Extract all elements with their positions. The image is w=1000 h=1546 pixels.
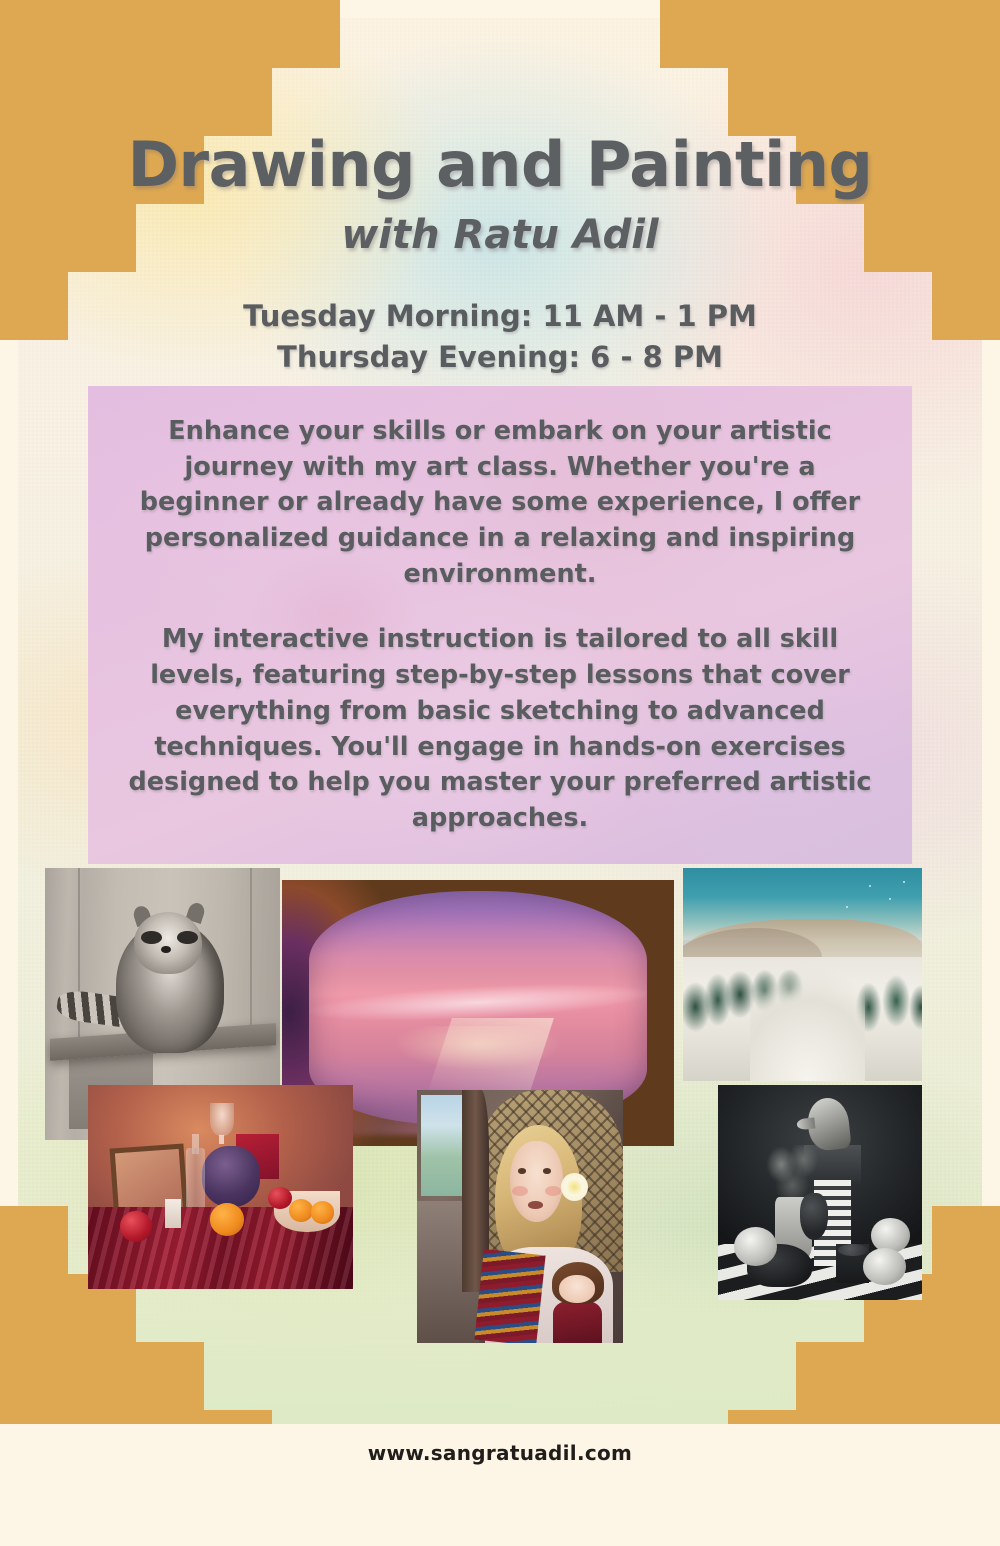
mono-pumpkin-left [734,1227,777,1266]
description-paragraph-1: Enhance your skills or embark on your ar… [124,414,876,592]
description-text: Enhance your skills or embark on your ar… [88,386,912,864]
description-paragraph-2: My interactive instruction is tailored t… [124,622,876,836]
raccoon-eye-mask-right [177,931,198,945]
poster-subtitle: with Ratu Adil [0,212,1000,258]
still-life-goblet [210,1103,234,1136]
portrait-eye-left [518,1168,526,1174]
poster-canvas: Drawing and Painting with Ratu Adil Tues… [0,0,1000,1546]
doll-face [559,1275,595,1303]
portrait-mouth [528,1201,542,1209]
winter-snow-path [750,966,865,1081]
artwork-monochrome-still-life [718,1085,922,1300]
still-life-grapes [202,1146,260,1207]
website-url[interactable]: www.sangratuadil.com [0,1441,1000,1465]
still-life-orange-front [210,1203,244,1236]
portrait-eye-right [543,1168,551,1174]
artwork-girl-with-doll-portrait [417,1090,623,1343]
artwork-red-drapery-still-life [88,1085,353,1289]
mono-grapes [800,1193,829,1240]
poster-title: Drawing and Painting [0,128,1000,201]
schedule-line-thursday: Thursday Evening: 6 - 8 PM [0,337,1000,378]
raccoon-nose [161,946,170,953]
doll-dress [553,1301,602,1343]
portrait-girl-face [510,1141,564,1222]
portrait-patterned-shawl [474,1249,545,1343]
artwork-winter-landscape-painting [683,868,922,1081]
portrait-doll [547,1262,609,1343]
mono-pumpkin-right-lower [863,1248,906,1285]
description-panel: Enhance your skills or embark on your ar… [88,386,912,864]
schedule-block: Tuesday Morning: 11 AM - 1 PM Thursday E… [0,296,1000,378]
still-life-red-apple [120,1211,152,1242]
schedule-line-tuesday: Tuesday Morning: 11 AM - 1 PM [0,296,1000,337]
mono-pumpkin-right-upper [871,1218,910,1252]
still-life-orange-bowl-1 [289,1199,313,1221]
raccoon-wall-line-2 [250,868,252,1031]
still-life-orange-bowl-2 [311,1201,335,1223]
still-life-white-vase [165,1199,181,1228]
